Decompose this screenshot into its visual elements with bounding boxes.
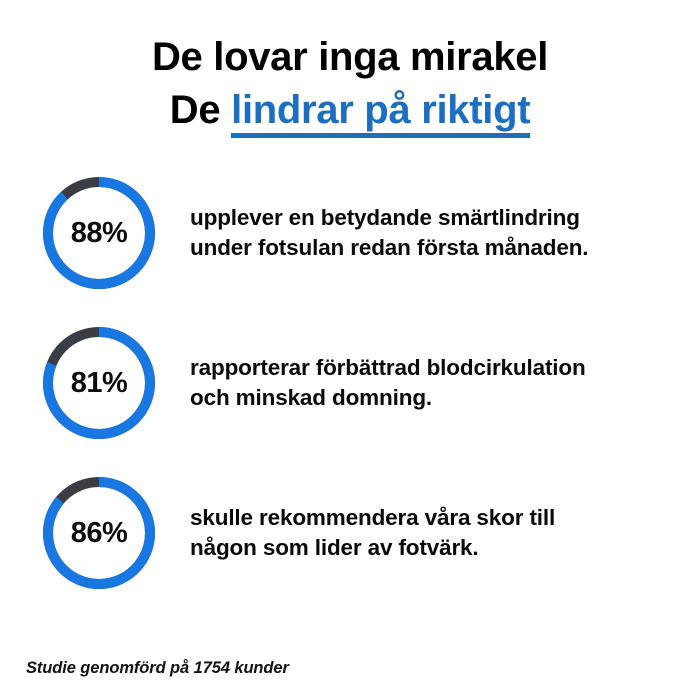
stat-description-line: rapporterar förbättrad blodcirkulation xyxy=(190,353,586,383)
donut-chart-2: 81% xyxy=(42,326,156,440)
donut-percent-label: 88% xyxy=(42,176,156,290)
stat-description: upplever en betydande smärtlindring unde… xyxy=(190,203,588,263)
footnote: Studie genomförd på 1754 kunder xyxy=(26,659,289,678)
headline-line-1-text: De lovar inga mirakel xyxy=(152,35,548,79)
stat-description-line: och minskad domning. xyxy=(190,383,586,413)
stat-description-line: skulle rekommendera våra skor till xyxy=(190,503,555,533)
stat-description: skulle rekommendera våra skor till någon… xyxy=(190,503,555,563)
stat-list: 88% upplever en betydande smärtlindring … xyxy=(0,158,700,608)
stat-row: 88% upplever en betydande smärtlindring … xyxy=(0,158,700,308)
stat-description-line: under fotsulan redan första månaden. xyxy=(190,233,588,263)
headline-line-2-prefix: De xyxy=(170,88,231,132)
stat-description-line: någon som lider av fotvärk. xyxy=(190,533,555,563)
stat-row: 81% rapporterar förbättrad blodcirkulati… xyxy=(0,308,700,458)
stat-description-line: upplever en betydande smärtlindring xyxy=(190,203,588,233)
donut-chart-1: 88% xyxy=(42,176,156,290)
infographic-root: De lovar inga mirakel De lindrar på rikt… xyxy=(0,0,700,700)
stat-description: rapporterar förbättrad blodcirkulation o… xyxy=(190,353,586,413)
donut-percent-label: 86% xyxy=(42,476,156,590)
donut-chart-3: 86% xyxy=(42,476,156,590)
headline-link[interactable]: lindrar på riktigt xyxy=(231,88,530,138)
headline: De lovar inga mirakel De lindrar på rikt… xyxy=(0,0,700,136)
headline-line-1: De lovar inga mirakel xyxy=(0,32,700,83)
stat-row: 86% skulle rekommendera våra skor till n… xyxy=(0,458,700,608)
donut-percent-label: 81% xyxy=(42,326,156,440)
headline-line-2: De lindrar på riktigt xyxy=(0,85,700,136)
